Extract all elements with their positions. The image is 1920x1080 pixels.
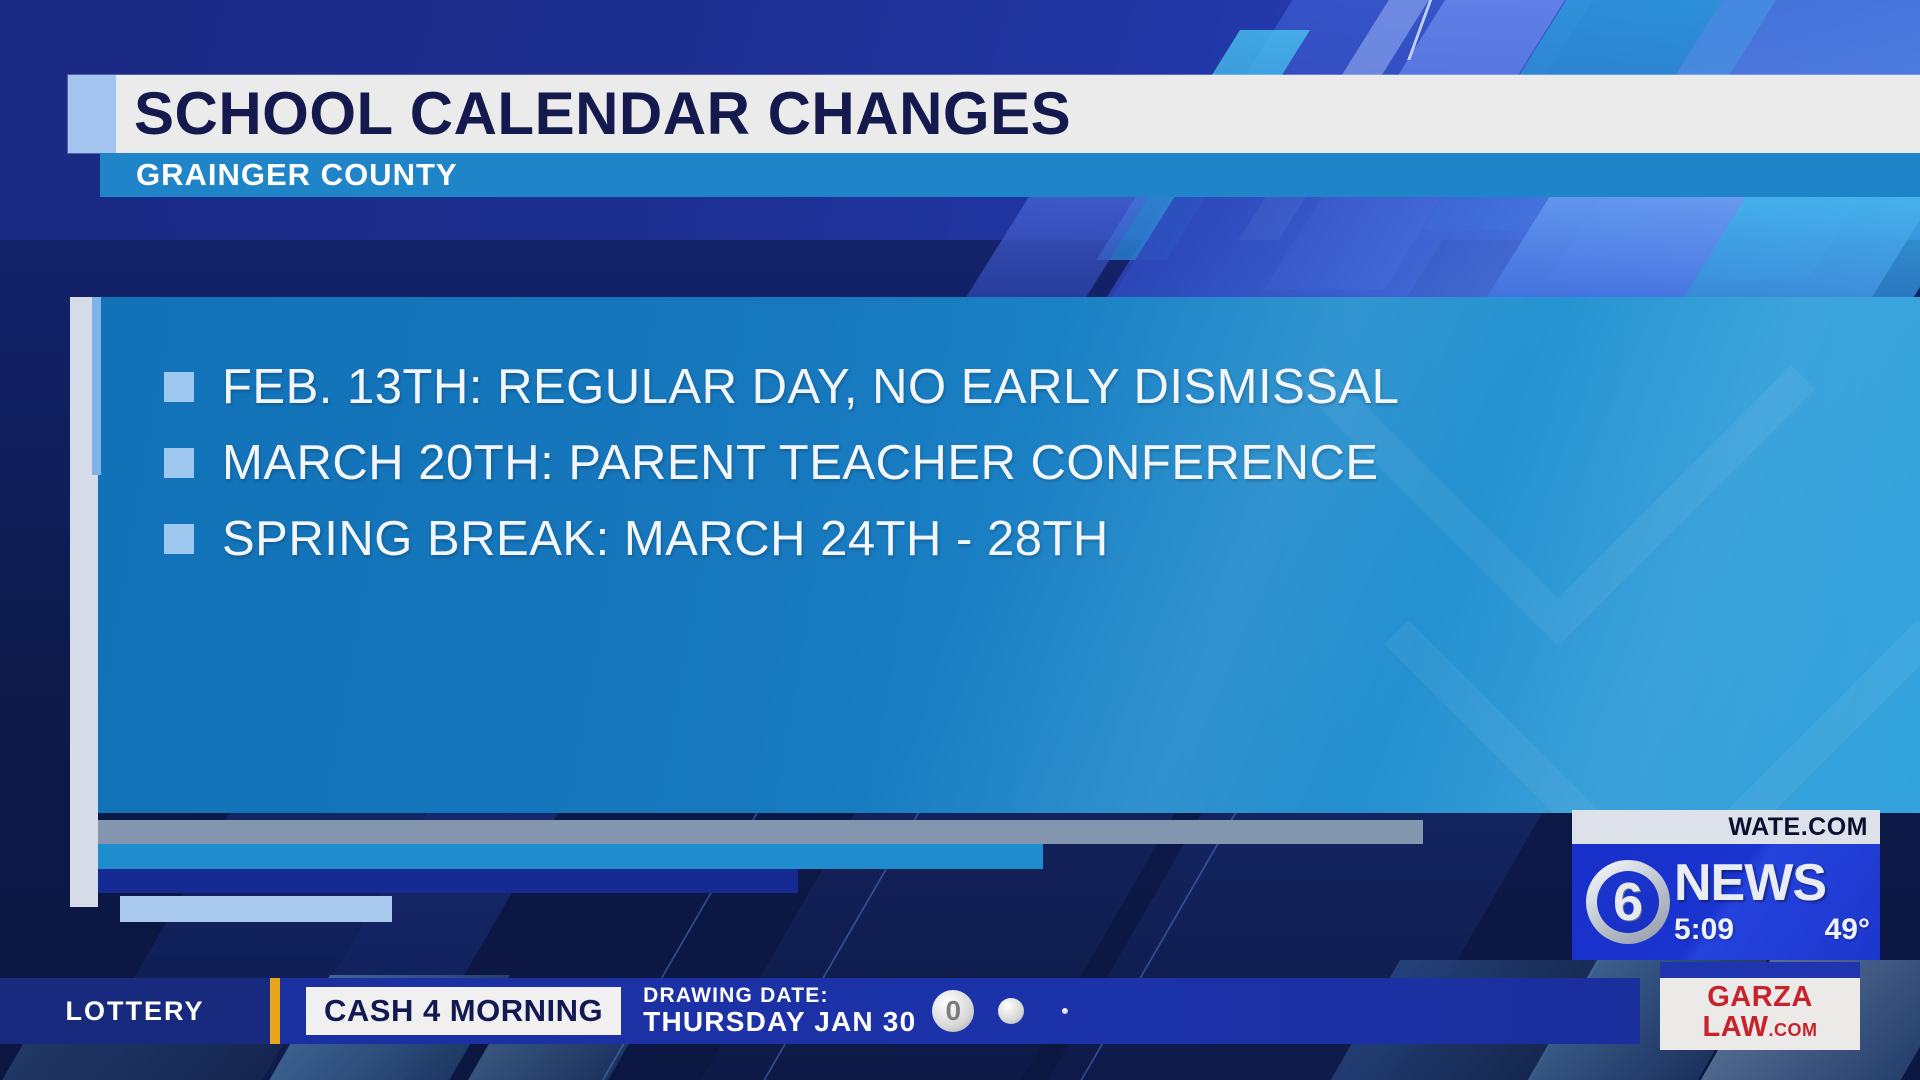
list-item-label: FEB. 13TH: REGULAR DAY, NO EARLY DISMISS… [222,359,1399,415]
background-diagonal-shape [1105,188,1920,308]
headline-block: SCHOOL CALENDAR CHANGES GRAINGER COUNTY [68,75,1920,197]
ticker-category: LOTTERY [0,978,270,1044]
list-item-label: SPRING BREAK: MARCH 24TH - 28TH [222,511,1109,567]
lottery-ball [1062,1008,1068,1014]
station-bug: WATE.COM 6 NEWS 5:09 49° [1572,810,1880,960]
temperature-readout: 49° [1825,913,1870,947]
headline-accent-block [68,75,116,153]
content-panel: FEB. 13TH: REGULAR DAY, NO EARLY DISMISS… [98,297,1920,813]
list-item-label: MARCH 20TH: PARENT TEACHER CONFERENCE [222,435,1379,491]
sponsor-logo: GARZA LAW.COM [1660,978,1860,1050]
lottery-ball [998,998,1024,1024]
station-meta: 5:09 49° [1674,913,1870,947]
lottery-ticker: LOTTERY CASH 4 MORNING DRAWING DATE: THU… [0,978,1640,1044]
sponsor-line-two: LAW.COM [1703,1012,1818,1046]
sponsor-line-one: GARZA [1707,983,1813,1012]
lottery-ball-group: 0 [932,990,1068,1032]
lottery-game-name: CASH 4 MORNING [306,987,621,1035]
channel-number: 6 [1613,875,1643,929]
background-diagonal-shape [961,195,1150,305]
page-title: SCHOOL CALENDAR CHANGES [116,75,1071,153]
decorative-bar-light [120,896,392,922]
list-item: MARCH 20TH: PARENT TEACHER CONFERENCE [164,425,1399,501]
sponsor-tld: .COM [1768,1020,1817,1040]
background-light-streak [1407,0,1435,60]
ticker-category-label: LOTTERY [66,996,205,1027]
sponsor-top-cap [1660,962,1860,978]
broadcast-graphic: SCHOOL CALENDAR CHANGES GRAINGER COUNTY … [0,0,1920,1080]
decorative-bar-blue [98,844,1043,869]
station-brand: NEWS [1674,857,1870,909]
lottery-ball: 0 [932,990,974,1032]
page-subtitle: GRAINGER COUNTY [100,153,458,197]
bullet-square-icon [164,372,194,402]
decorative-bar-navy [98,869,798,893]
background-diagonal-shape [1479,180,1760,310]
clock-time: 5:09 [1674,913,1734,947]
drawing-info: DRAWING DATE: THURSDAY JAN 30 [643,985,916,1036]
bullet-square-icon [164,524,194,554]
left-accent-rail-highlight [92,297,101,475]
ticker-content: CASH 4 MORNING DRAWING DATE: THURSDAY JA… [280,978,1640,1044]
bullet-square-icon [164,448,194,478]
decorative-bar-gray [98,820,1423,844]
drawing-date-value: THURSDAY JAN 30 [643,1007,916,1036]
station-bug-text: NEWS 5:09 49° [1674,857,1870,947]
bullet-list: FEB. 13TH: REGULAR DAY, NO EARLY DISMISS… [164,349,1399,577]
station-bug-body: 6 NEWS 5:09 49° [1572,844,1880,960]
list-item: SPRING BREAK: MARCH 24TH - 28TH [164,501,1399,577]
sponsor-law-word: LAW [1703,1011,1769,1043]
chevron-decoration [1384,365,1920,813]
headline-title-bar: SCHOOL CALENDAR CHANGES [68,75,1920,153]
channel-six-logo-icon: 6 [1586,860,1670,944]
headline-subtitle-bar: GRAINGER COUNTY [100,153,1920,197]
drawing-date-label: DRAWING DATE: [643,985,916,1007]
ticker-gold-divider [270,978,280,1044]
list-item: FEB. 13TH: REGULAR DAY, NO EARLY DISMISS… [164,349,1399,425]
station-website: WATE.COM [1572,810,1880,844]
